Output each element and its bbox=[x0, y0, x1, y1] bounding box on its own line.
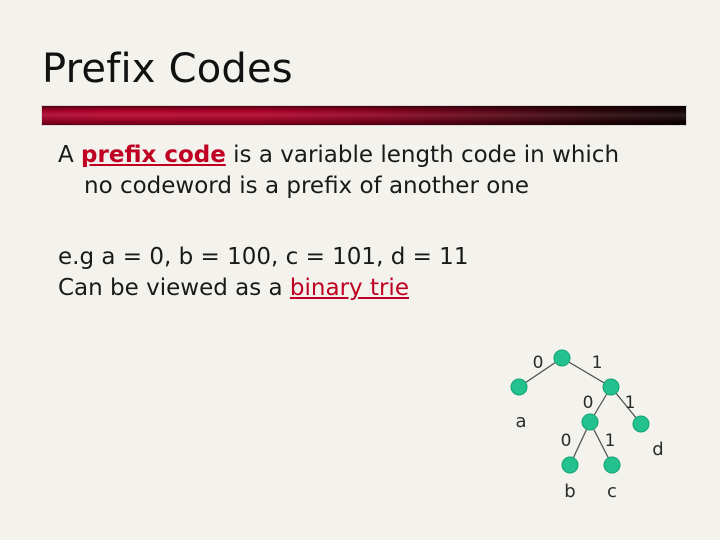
leaf-label-a: a bbox=[515, 411, 526, 432]
edge-label-internal1-left: 0 bbox=[583, 393, 594, 413]
title-block: Prefix Codes bbox=[42, 48, 688, 91]
node-leaf-d bbox=[633, 416, 649, 432]
edge-label-internal2-left: 0 bbox=[561, 431, 572, 451]
definition-text-before: A bbox=[58, 142, 81, 168]
edge-label-root-left: 0 bbox=[533, 353, 544, 373]
binary-trie-svg: 0 1 0 1 0 1 a d b c bbox=[495, 340, 695, 510]
keyword-prefix-code: prefix code bbox=[81, 142, 226, 168]
edge-label-internal1-right: 1 bbox=[625, 393, 636, 413]
body-text: A prefix code is a variable length code … bbox=[58, 140, 688, 304]
paragraph-example: e.g a = 0, b = 100, c = 101, d = 11 Can … bbox=[58, 242, 688, 304]
edge-label-internal2-right: 1 bbox=[605, 431, 616, 451]
page-title: Prefix Codes bbox=[42, 48, 688, 91]
binary-trie-figure: 0 1 0 1 0 1 a d b c bbox=[495, 340, 695, 510]
edge-label-root-right: 1 bbox=[592, 353, 603, 373]
definition-line-2: no codeword is a prefix of another one bbox=[58, 171, 688, 202]
trie-sentence-before: Can be viewed as a bbox=[58, 275, 290, 301]
leaf-label-d: d bbox=[652, 439, 663, 460]
example-codes-text: e.g a = 0, b = 100, c = 101, d = 11 bbox=[58, 244, 468, 270]
definition-text-after: is a variable length code in which bbox=[226, 142, 619, 168]
trie-sentence: Can be viewed as a binary trie bbox=[58, 273, 688, 304]
node-root bbox=[554, 350, 570, 366]
leaf-label-c: c bbox=[607, 481, 617, 502]
node-internal-2 bbox=[582, 414, 598, 430]
keyword-binary-trie: binary trie bbox=[290, 275, 409, 301]
node-leaf-a bbox=[511, 379, 527, 395]
leaf-label-b: b bbox=[564, 481, 575, 502]
paragraph-spacer bbox=[58, 202, 688, 242]
node-internal-1 bbox=[603, 379, 619, 395]
slide: Prefix Codes A prefix code is a variable… bbox=[0, 0, 720, 540]
paragraph-definition: A prefix code is a variable length code … bbox=[58, 140, 688, 202]
node-leaf-b bbox=[562, 457, 578, 473]
node-leaf-c bbox=[604, 457, 620, 473]
title-underline-bar bbox=[42, 106, 686, 125]
edge-root-to-internal1 bbox=[562, 358, 611, 387]
